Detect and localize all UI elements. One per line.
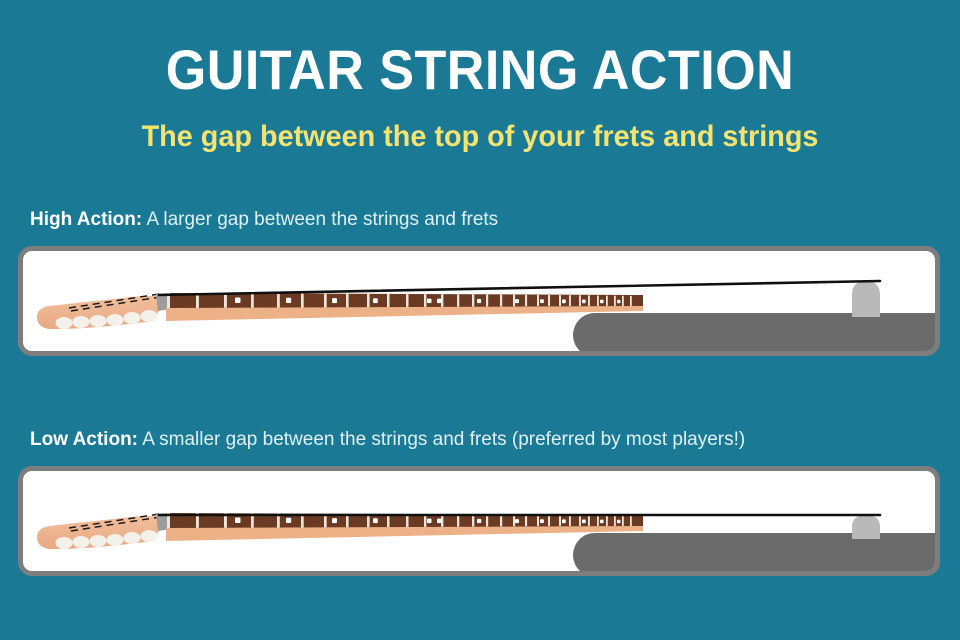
low-action-description: A smaller gap between the strings and fr…	[138, 429, 745, 450]
guitar-body	[573, 313, 935, 351]
low-action-label: Low Action:	[30, 429, 138, 450]
page-subtitle: The gap between the top of your frets an…	[19, 120, 941, 153]
guitar-body	[573, 533, 935, 571]
bridge-saddle	[852, 281, 880, 317]
high-action-guitar-illustration	[23, 251, 935, 351]
high-action-label: High Action:	[30, 209, 142, 230]
bridge-saddle	[852, 515, 880, 539]
low-action-caption: Low Action: A smaller gap between the st…	[30, 429, 745, 451]
guitar-string	[159, 281, 880, 295]
page-title: GUITAR STRING ACTION	[34, 42, 927, 98]
low-action-guitar-illustration	[23, 471, 935, 571]
high-action-description: A larger gap between the strings and fre…	[142, 209, 498, 230]
high-action-caption: High Action: A larger gap between the st…	[30, 209, 498, 231]
low-action-diagram-panel	[18, 466, 940, 576]
high-action-diagram-panel	[18, 246, 940, 356]
